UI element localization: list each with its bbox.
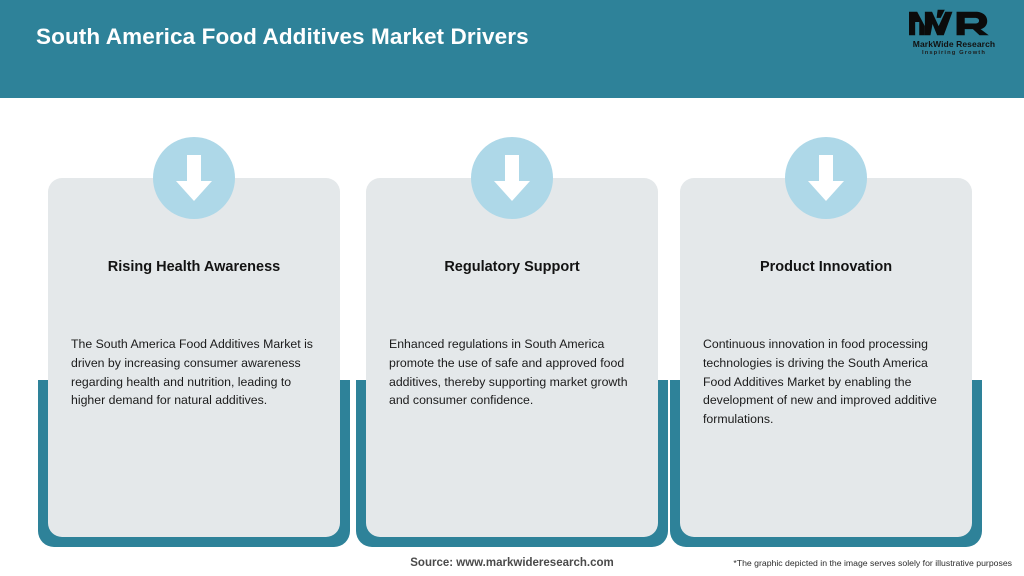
down-arrow-icon bbox=[785, 137, 867, 219]
card-panel: Regulatory Support Enhanced regulations … bbox=[366, 178, 658, 537]
card-body-text: Continuous innovation in food processing… bbox=[703, 335, 954, 429]
drivers-card-group: Rising Health Awareness The South Americ… bbox=[0, 0, 1024, 576]
down-arrow-glyph bbox=[490, 151, 534, 205]
card-body-text: The South America Food Additives Market … bbox=[71, 335, 322, 410]
driver-card-3: Product Innovation Continuous innovation… bbox=[668, 137, 984, 547]
card-title: Rising Health Awareness bbox=[48, 259, 340, 275]
down-arrow-icon bbox=[153, 137, 235, 219]
slide-root: South America Food Additives Market Driv… bbox=[0, 0, 1024, 576]
driver-card-1: Rising Health Awareness The South Americ… bbox=[36, 137, 352, 547]
card-title: Regulatory Support bbox=[366, 259, 658, 275]
down-arrow-glyph bbox=[172, 151, 216, 205]
card-panel: Rising Health Awareness The South Americ… bbox=[48, 178, 340, 537]
down-arrow-icon bbox=[471, 137, 553, 219]
card-title: Product Innovation bbox=[680, 259, 972, 275]
card-body-text: Enhanced regulations in South America pr… bbox=[389, 335, 640, 410]
card-panel: Product Innovation Continuous innovation… bbox=[680, 178, 972, 537]
disclaimer-label: *The graphic depicted in the image serve… bbox=[733, 558, 1012, 568]
down-arrow-glyph bbox=[804, 151, 848, 205]
driver-card-2: Regulatory Support Enhanced regulations … bbox=[354, 137, 670, 547]
